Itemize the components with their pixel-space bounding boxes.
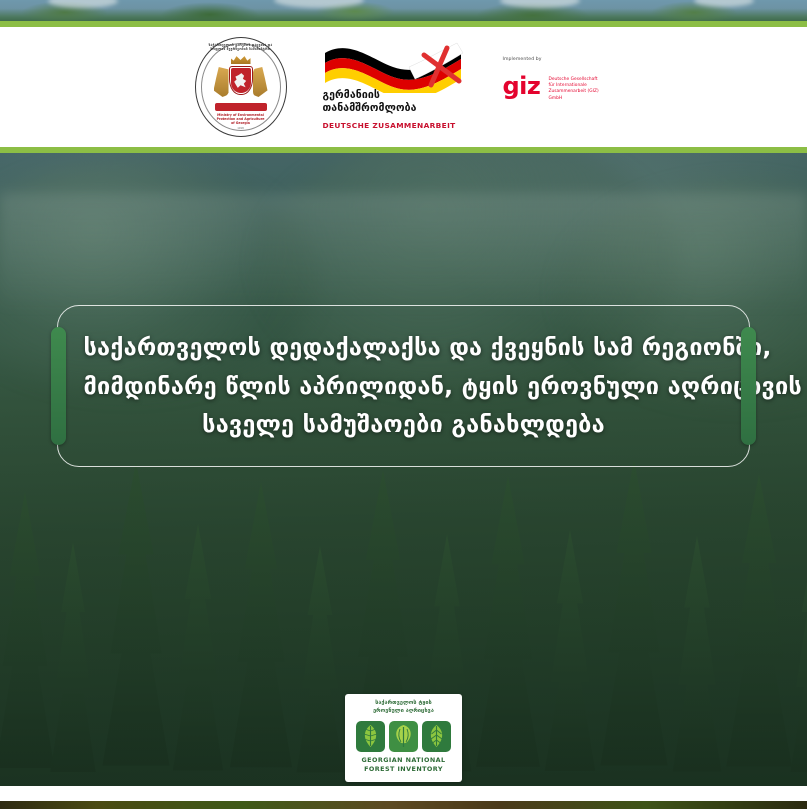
lion-supporter-left-icon <box>214 67 229 97</box>
ministry-founding-year: 1918 <box>195 127 287 130</box>
announcement-page: საქართველოს გარემოს დაცვისა და სოფლის მე… <box>0 0 807 809</box>
lion-supporter-right-icon <box>253 67 268 97</box>
ministry-of-environment-logo: საქართველოს გარემოს დაცვისა და სოფლის მე… <box>195 37 287 137</box>
german-cooperation-title-de: DEUTSCHE ZUSAMMENARBEIT <box>323 121 465 130</box>
gnfi-leaf-icons <box>350 721 457 752</box>
footer-image-strip <box>0 801 807 809</box>
german-cooperation-title-ka: გერმანიის თანამშრომლობა <box>323 89 465 115</box>
crown-icon <box>231 55 251 64</box>
giz-wordmark: giz <box>503 74 541 98</box>
title-line-1: საქართველოს დედაქალაქსა და ქვეყნის სამ რ… <box>84 328 724 367</box>
giz-full-name: Deutsche Gesellschaft für Internationale… <box>549 77 613 102</box>
accent-pill-left <box>51 327 66 445</box>
gnfi-name-en: GEORGIAN NATIONAL FOREST INVENTORY <box>350 756 457 775</box>
accent-pill-right <box>741 327 756 445</box>
broadleaf-icon <box>356 721 385 752</box>
giz-logo: Implemented by giz Deutsche Gesellschaft… <box>501 57 613 117</box>
title-line-2: მიმდინარე წლის აპრილიდან, ტყის ეროვნული … <box>84 367 724 406</box>
partner-logo-header: საქართველოს გარემოს დაცვისა და სოფლის მე… <box>0 27 807 147</box>
announcement-title: საქართველოს დედაქალაქსა და ქვეყნის სამ რ… <box>84 328 724 444</box>
top-forest-strip <box>0 0 807 21</box>
emblem-ribbon <box>215 103 267 111</box>
gnfi-logo: საქართველოს ტყის ეროვნული აღრიცხვა <box>345 694 462 782</box>
coat-of-arms-icon <box>215 59 267 105</box>
german-georgian-flag-icon <box>323 41 465 93</box>
footer-white-band <box>0 786 807 801</box>
announcement-title-card: საქართველოს დედაქალაქსა და ქვეყნის სამ რ… <box>57 305 750 467</box>
title-line-3: საველე სამუშაოები განახლდება <box>84 405 724 444</box>
german-cooperation-logo: გერმანიის თანამშრომლობა DEUTSCHE ZUSAMME… <box>321 39 467 135</box>
gnfi-name-ka: საქართველოს ტყის ეროვნული აღრიცხვა <box>350 700 457 716</box>
tree-crown-icon <box>389 721 418 752</box>
conifer-leaf-icon <box>422 721 451 752</box>
ministry-name-en: Ministry of Environmental Protection and… <box>195 113 287 125</box>
giz-implemented-by-label: Implemented by <box>503 57 542 62</box>
shield-icon <box>229 66 253 95</box>
hero-forest-image <box>0 153 807 786</box>
ministry-name-ka: საქართველოს გარემოს დაცვისა და სოფლის მე… <box>195 44 287 51</box>
